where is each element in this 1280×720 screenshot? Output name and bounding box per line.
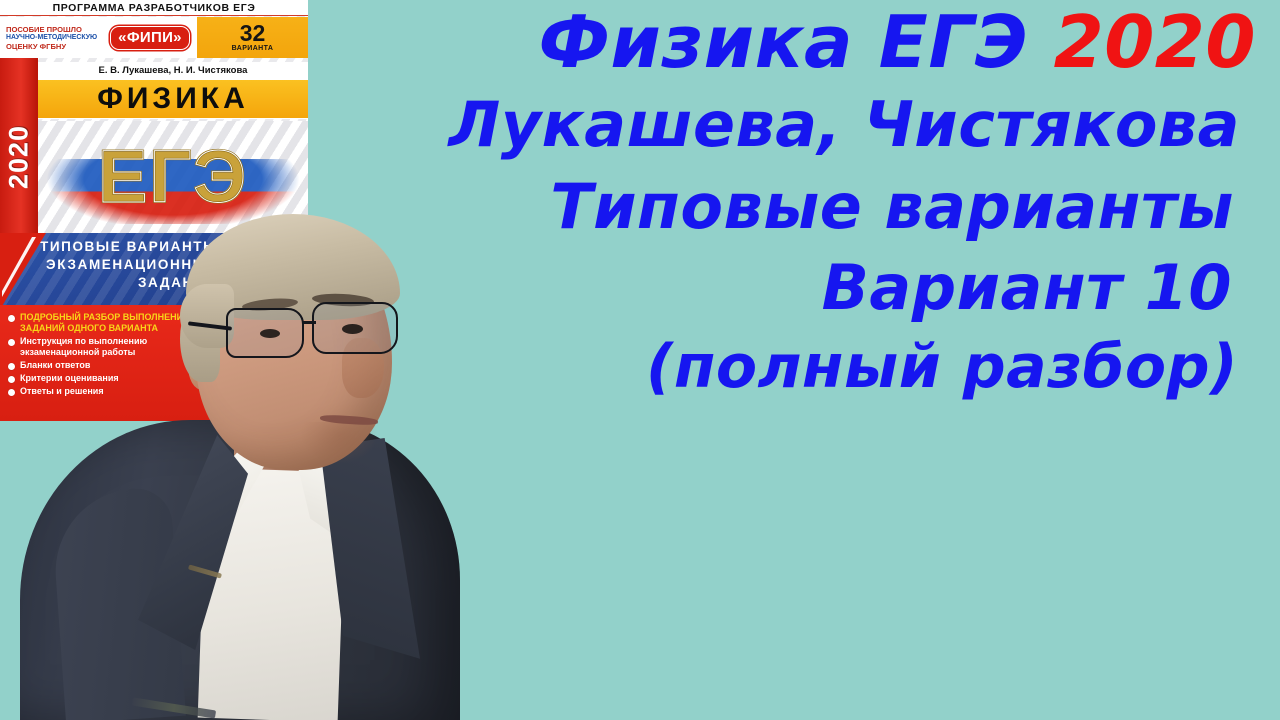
cover-authors-text: Е. В. Лукашева, Н. И. Чистякова bbox=[99, 65, 248, 76]
endorsement-line-1: ПОСОБИЕ ПРОШЛО bbox=[6, 25, 104, 34]
video-thumbnail-canvas: ПРОГРАММА РАЗРАБОТЧИКОВ ЕГЭ ПОСОБИЕ ПРОШ… bbox=[0, 0, 1280, 720]
title-subject-text: Физика ЕГЭ bbox=[538, 0, 1053, 84]
title-overlay: Физика ЕГЭ 2020 Лукашева, Чистякова Типо… bbox=[282, 6, 1262, 398]
cover-header-text: ПРОГРАММА РАЗРАБОТЧИКОВ ЕГЭ bbox=[53, 2, 256, 14]
bullet-dot-icon bbox=[8, 315, 15, 322]
chin-shadow bbox=[300, 422, 378, 464]
cover-subject-band: ФИЗИКА bbox=[38, 79, 308, 119]
title-year-text: 2020 bbox=[1054, 0, 1256, 84]
title-line-1: Физика ЕГЭ 2020 bbox=[282, 6, 1262, 79]
cover-endorsement-row: ПОСОБИЕ ПРОШЛО НАУЧНО-МЕТОДИЧЕСКУЮ ОЦЕНК… bbox=[0, 17, 308, 58]
eye-left bbox=[260, 329, 280, 338]
endorsement-line-3: ОЦЕНКУ ФГБНУ bbox=[6, 42, 104, 51]
bullet-dot-icon bbox=[8, 389, 15, 396]
bullet-dot-icon bbox=[8, 363, 15, 370]
bullet-dot-icon bbox=[8, 376, 15, 383]
cover-header-band: ПРОГРАММА РАЗРАБОТЧИКОВ ЕГЭ bbox=[0, 0, 308, 16]
endorsement-line-2: НАУЧНО-МЕТОДИЧЕСКУЮ bbox=[6, 34, 104, 42]
spine-year: 2020 bbox=[4, 125, 35, 189]
cover-subject-text: ФИЗИКА bbox=[97, 84, 249, 114]
fipi-badge-wrap: «ФИПИ» bbox=[104, 17, 196, 58]
bullet-dot-icon bbox=[8, 339, 15, 346]
title-line-4: Вариант 10 bbox=[282, 256, 1262, 319]
title-line-5: (полный разбор) bbox=[282, 337, 1262, 398]
title-line-3: Типовые варианты bbox=[282, 175, 1262, 238]
title-line-2: Лукашева, Чистякова bbox=[282, 93, 1262, 156]
cover-endorsement-text: ПОСОБИЕ ПРОШЛО НАУЧНО-МЕТОДИЧЕСКУЮ ОЦЕНК… bbox=[0, 17, 104, 58]
variants-caption: ВАРИАНТА bbox=[232, 45, 274, 52]
variants-number: 32 bbox=[240, 23, 266, 44]
cover-authors-band: Е. В. Лукашева, Н. И. Чистякова bbox=[38, 62, 308, 79]
fipi-badge: «ФИПИ» bbox=[110, 26, 190, 50]
